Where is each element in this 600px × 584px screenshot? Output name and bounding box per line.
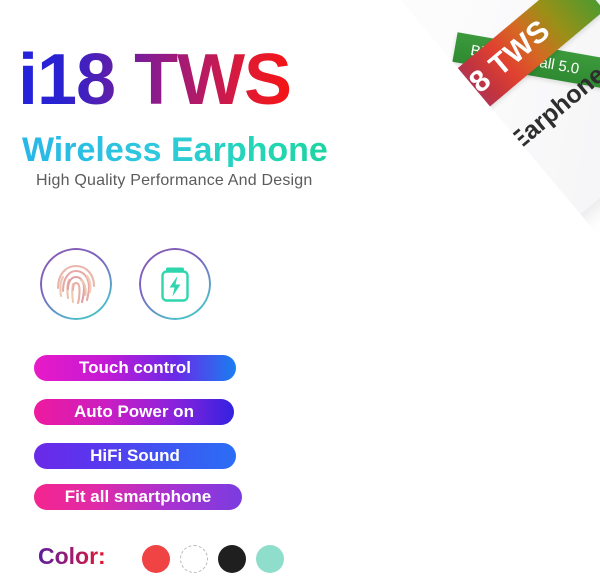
page-subtitle: Wireless Earphone [22, 133, 328, 167]
feature-pill-label: Fit all smartphone [65, 487, 211, 507]
fingerprint-icon-glyph [46, 254, 106, 314]
battery-charge-icon [139, 248, 211, 320]
feature-pill-fit-all-smartphone[interactable]: Fit all smartphone [34, 484, 242, 510]
fingerprint-icon [40, 248, 112, 320]
color-swatch-white[interactable] [180, 545, 208, 573]
feature-pill-hifi-sound[interactable]: HiFi Sound [34, 443, 236, 469]
feature-pill-touch-control[interactable]: Touch control [34, 355, 236, 381]
product-ad-canvas: Binaural Call 5.0 Binaural Call 5 i18 TW… [0, 0, 600, 584]
feature-pill-label: Touch control [79, 358, 191, 378]
color-swatch-black[interactable] [218, 545, 246, 573]
color-swatch-red[interactable] [142, 545, 170, 573]
feature-pill-auto-power-on[interactable]: Auto Power on [34, 399, 234, 425]
feature-pill-label: HiFi Sound [90, 446, 180, 466]
color-options-label: Color: [38, 545, 106, 568]
battery-charge-icon-glyph [145, 254, 205, 314]
page-tagline: High Quality Performance And Design [36, 172, 312, 190]
feature-pill-label: Auto Power on [74, 402, 194, 422]
page-title: i18 TWS [18, 44, 291, 116]
color-swatch-mint[interactable] [256, 545, 284, 573]
